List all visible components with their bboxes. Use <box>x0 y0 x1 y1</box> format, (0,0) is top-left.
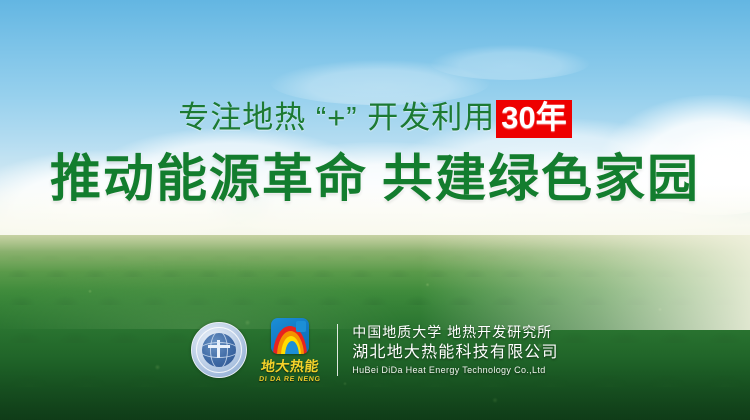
org-line-1: 中国地质大学 地热开发研究所 <box>352 323 558 342</box>
main-headline-part2: 共建绿色家园 <box>382 150 700 207</box>
sub-headline-text: 专注地热 “+” 开发利用 <box>178 100 495 135</box>
university-seal-icon <box>191 322 247 378</box>
vertical-divider <box>337 324 338 376</box>
years-badge: 30年 <box>496 100 571 138</box>
main-headline-part1: 推动能源革命 <box>50 150 368 207</box>
brand-mark: 地大热能 DI DA RE NENG <box>257 318 323 383</box>
sub-headline: 专注地热 “+” 开发利用30年 <box>0 99 750 138</box>
main-headline: 推动能源革命共建绿色家园 <box>0 149 750 209</box>
footer-logo-bar: 地大热能 DI DA RE NENG 中国地质大学 地热开发研究所 湖北地大热能… <box>0 315 750 385</box>
organization-text: 中国地质大学 地热开发研究所 湖北地大热能科技有限公司 HuBei DiDa H… <box>352 323 558 377</box>
org-line-2: 湖北地大热能科技有限公司 <box>352 342 558 363</box>
promotional-banner: 专注地热 “+” 开发利用30年 推动能源革命共建绿色家园 地大热能 DI DA… <box>0 0 750 420</box>
headline-block: 专注地热 “+” 开发利用30年 推动能源革命共建绿色家园 <box>0 0 750 209</box>
brand-name-cn: 地大热能 <box>260 356 320 376</box>
logo-notch <box>296 321 306 332</box>
org-line-3: HuBei DiDa Heat Energy Technology Co.,Lt… <box>352 363 558 377</box>
rainbow-arc-logo-icon <box>271 318 309 354</box>
brand-name-en: DI DA RE NENG <box>259 376 321 383</box>
seal-emblem <box>208 340 230 358</box>
